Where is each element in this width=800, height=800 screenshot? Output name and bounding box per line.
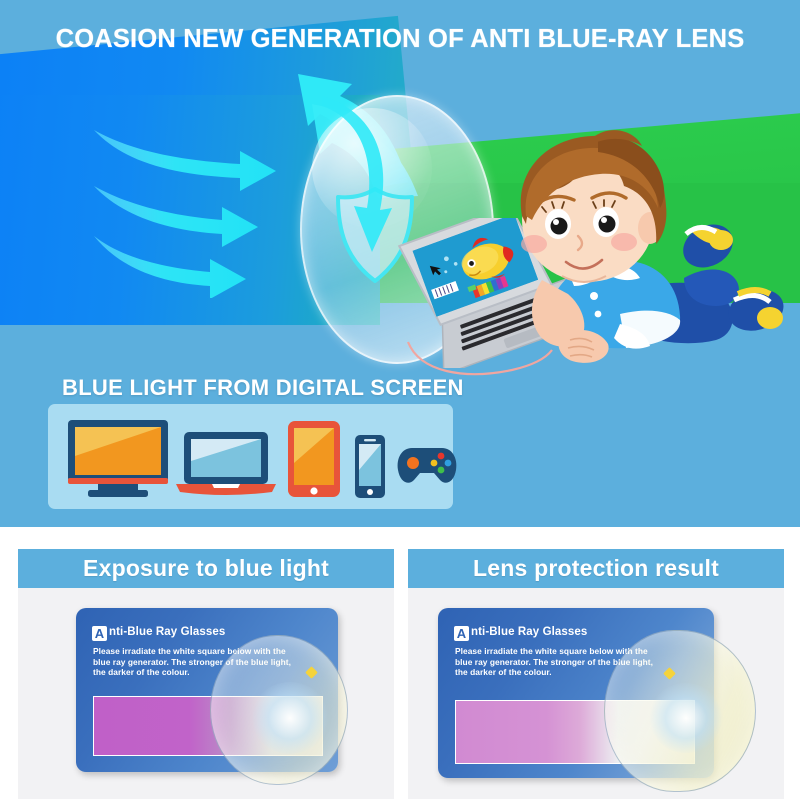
panel-exposure: Exposure to blue light A nti-Blue Ray Gl… xyxy=(18,549,394,799)
lens-center-mark-icon xyxy=(663,667,676,680)
card-title: nti-Blue Ray Glasses xyxy=(109,626,225,638)
panel-protection-body: A nti-Blue Ray Glasses Please irradiate … xyxy=(408,588,784,799)
monitor-icon xyxy=(64,418,172,498)
smartphone-icon xyxy=(354,434,386,499)
panel-exposure-header-text: Exposure to blue light xyxy=(83,555,329,582)
demo-lens-exposure xyxy=(210,635,348,785)
page-title: COASION NEW GENERATION OF ANTI BLUE-RAY … xyxy=(0,18,800,58)
devices-panel xyxy=(48,404,453,509)
gamepad-icon xyxy=(396,444,458,489)
laptop-icon xyxy=(176,430,276,498)
demo-lens-protection xyxy=(604,630,756,792)
panel-exposure-header: Exposure to blue light xyxy=(18,549,394,588)
comparison-section: Exposure to blue light A nti-Blue Ray Gl… xyxy=(0,527,800,800)
panel-protection: Lens protection result A nti-Blue Ray Gl… xyxy=(408,549,784,799)
panel-exposure-body: A nti-Blue Ray Glasses Please irradiate … xyxy=(18,588,394,799)
infographic-page: COASION NEW GENERATION OF ANTI BLUE-RAY … xyxy=(0,0,800,800)
lens-blue-glow xyxy=(251,682,329,754)
hero-section: COASION NEW GENERATION OF ANTI BLUE-RAY … xyxy=(0,0,800,527)
card-logo: A xyxy=(454,626,469,641)
panel-protection-header: Lens protection result xyxy=(408,549,784,588)
blue-ray-arrow-2 xyxy=(94,186,258,247)
devices-section-title: BLUE LIGHT FROM DIGITAL SCREEN xyxy=(62,375,464,401)
lens-blue-glow xyxy=(649,683,723,753)
boy-illustration xyxy=(470,128,800,368)
lens-center-mark-icon xyxy=(305,666,318,679)
svg-text:COASION NEW GENERATION OF ANTI: COASION NEW GENERATION OF ANTI BLUE-RAY … xyxy=(56,25,745,53)
blue-ray-arrow-1 xyxy=(94,130,276,191)
card-logo: A xyxy=(92,626,107,641)
panel-protection-header-text: Lens protection result xyxy=(473,555,719,582)
card-title: nti-Blue Ray Glasses xyxy=(471,626,587,638)
tablet-icon xyxy=(286,419,342,499)
